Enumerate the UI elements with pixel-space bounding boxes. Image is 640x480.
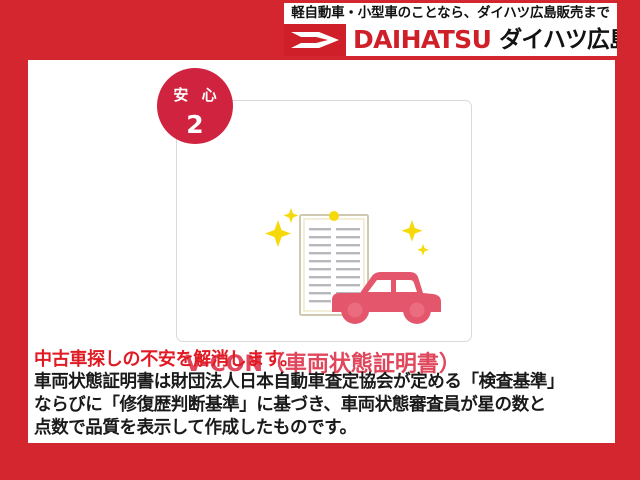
brand-logo-row: DAIHATSU ダイハツ広島販売 — [284, 24, 617, 56]
description-line: 車両状態証明書は財団法人日本自動車査定協会が定める「検査基準」 — [34, 371, 609, 394]
description-block: 中古車探しの不安を解消します。 車両状態証明書は財団法人日本自動車査定協会が定め… — [34, 348, 609, 440]
sparkle-icon — [265, 208, 299, 247]
poster-canvas: 軽自動車・小型車のことなら、ダイハツ広島販売まで DAIHATSU ダイハツ広島… — [0, 0, 640, 480]
header-tagline: 軽自動車・小型車のことなら、ダイハツ広島販売まで — [284, 3, 617, 24]
brand-wordmark: DAIHATSU — [346, 24, 497, 56]
description-heading: 中古車探しの不安を解消します。 — [34, 348, 609, 371]
vcon-illustration — [260, 200, 460, 330]
anshin-badge-label: 安 心 — [157, 68, 233, 103]
brand-jp-name: ダイハツ広島販売 — [497, 24, 617, 56]
content-card: V-CON（車両状態証明書） 中古車探しの不安を解消します。 車両状態証明書は財… — [28, 60, 615, 443]
sparkle-icon — [402, 220, 429, 256]
anshin-badge: 安 心 2 — [157, 68, 233, 144]
daihatsu-emblem-icon — [284, 24, 346, 56]
description-line: 点数で品質を表示して作成したものです。 — [34, 417, 609, 440]
anshin-badge-number: 2 — [157, 103, 233, 137]
description-line: ならびに「修復歴判断基準」に基づき、車両状態審査員が星の数と — [34, 394, 609, 417]
header-banner: 軽自動車・小型車のことなら、ダイハツ広島販売まで DAIHATSU ダイハツ広島… — [284, 3, 617, 56]
